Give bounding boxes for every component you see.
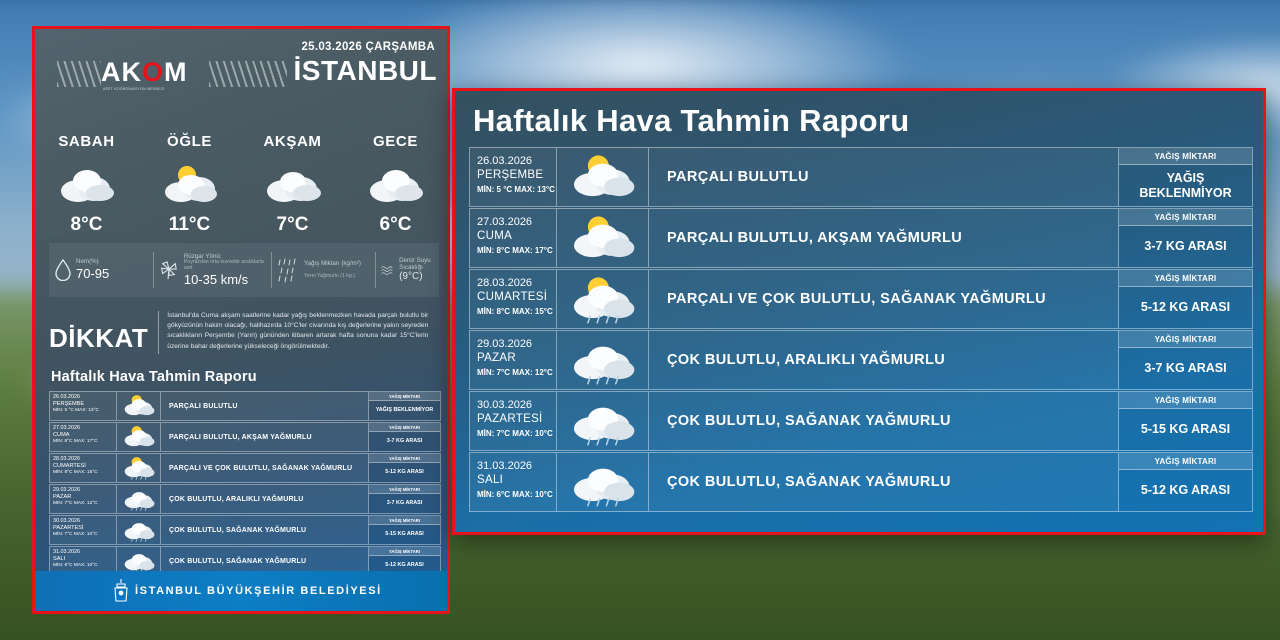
- row-temps: MİN: 7°C MAX: 10°C: [477, 429, 551, 439]
- precipitation-sub: Yerel Yağmurlu (1 kg.): [304, 274, 361, 280]
- table-row[interactable]: 29.03.2026 PAZAR MİN: 7°C MAX: 12°C ÇOK …: [469, 330, 1253, 390]
- card-date: 25.03.2026 ÇARŞAMBA: [301, 41, 435, 53]
- row-description: PARÇALI BULUTLU: [649, 147, 1119, 207]
- row-date-cell: 31.03.2026 SALI MİN: 6°C MAX: 10°C: [469, 452, 557, 512]
- row-date: 29.03.2026: [477, 337, 551, 351]
- rain-header: YAĞIŞ MİKTARI: [369, 516, 440, 525]
- partly-sunny-icon: [138, 158, 241, 210]
- row-date-cell: 29.03.2026 PAZAR MİN: 7°C MAX: 12°C: [469, 330, 557, 390]
- row-date-cell: 28.03.2026 CUMARTESİ MİN: 8°C MAX: 15°C: [469, 269, 557, 329]
- row-date-cell: 28.03.2026 CUMARTESİ MİN: 8°C MAX: 15°C: [49, 453, 117, 483]
- akom-logo: AKOM AFET KOORDİNASYON MERKEZİ: [57, 57, 287, 101]
- logo-wordmark: AKOM: [101, 57, 188, 88]
- row-date-cell: 26.03.2026 PERŞEMBE MİN: 5 °C MAX: 13°C: [469, 147, 557, 207]
- row-weekday: PAZARTESİ: [477, 412, 551, 427]
- row-description: PARÇALI BULUTLU, AKŞAM YAĞMURLU: [649, 208, 1119, 268]
- rain-value: 3-7 KG ARASI: [1119, 348, 1252, 389]
- partly-sunny-icon: [117, 391, 161, 421]
- card-footer: İSTANBUL BÜYÜKŞEHİR BELEDİYESİ: [35, 571, 447, 611]
- rain-value: 5-15 KG ARASI: [1119, 409, 1252, 450]
- tod-temperature: 7°C: [241, 214, 344, 236]
- sea-temperature-item: Deniz Suyu Sıcaklığı (9°C): [375, 243, 439, 297]
- row-temps: MİN: 6°C MAX: 10°C: [477, 490, 551, 500]
- partly-sunny-icon: [557, 147, 649, 207]
- cloudy-icon: [35, 158, 138, 210]
- row-rain-cell: YAĞIŞ MİKTARI 5-12 KG ARASI: [1119, 452, 1253, 512]
- wind-description: Poyrazdan orta kuvvette aralıklarla sert: [184, 260, 265, 272]
- card-city: İSTANBUL: [294, 55, 437, 87]
- humidity-value: 70-95: [76, 267, 109, 282]
- row-rain-cell: YAĞIŞ MİKTARI 5-12 KG ARASI: [1119, 269, 1253, 329]
- row-date: 30.03.2026: [477, 398, 551, 412]
- cloud-rain-icon: [557, 452, 649, 512]
- row-date: 26.03.2026: [53, 394, 113, 401]
- row-rain-cell: YAĞIŞ MİKTARI YAĞIŞ BEKLENMİYOR: [369, 391, 441, 421]
- overlay-title: Haftalık Hava Tahmin Raporu: [473, 103, 909, 139]
- row-weekday: CUMARTESİ: [477, 290, 551, 305]
- cloudy-night-icon: [344, 158, 447, 210]
- humidity-item: Nem(%) 70-95: [49, 243, 153, 297]
- rain-header: YAĞIŞ MİKTARI: [1119, 331, 1252, 348]
- row-date: 29.03.2026: [53, 487, 113, 494]
- precipitation-item: Yağış Miktarı (kg/m²) Yerel Yağmurlu (1 …: [271, 243, 375, 297]
- logo-stripes-right: [209, 61, 287, 87]
- row-description: ÇOK BULUTLU, SAĞANAK YAĞMURLU: [649, 391, 1119, 451]
- row-date: 28.03.2026: [477, 276, 551, 290]
- rain-value: 3-7 KG ARASI: [369, 432, 440, 451]
- row-temps: MİN: 8°C MAX: 17°C: [53, 439, 113, 445]
- row-date-cell: 26.03.2026 PERŞEMBE MİN: 5 °C MAX: 13°C: [49, 391, 117, 421]
- cloud-rain-icon: [557, 391, 649, 451]
- row-weekday: CUMARTESİ: [53, 463, 113, 470]
- row-date-cell: 27.03.2026 CUMA MİN: 8°C MAX: 17°C: [469, 208, 557, 268]
- partly-sunny-icon: [557, 208, 649, 268]
- table-row[interactable]: 31.03.2026 SALI MİN: 6°C MAX: 10°C ÇOK B…: [469, 452, 1253, 512]
- weekly-forecast-table: 26.03.2026 PERŞEMBE MİN: 5 °C MAX: 13°C …: [469, 147, 1253, 513]
- pinwheel-icon: [159, 258, 179, 282]
- row-rain-cell: YAĞIŞ MİKTARI 5-15 KG ARASI: [1119, 391, 1253, 451]
- tod-ogle: ÖĞLE 11°C: [138, 133, 241, 236]
- row-rain-cell: YAĞIŞ MİKTARI 3-7 KG ARASI: [369, 484, 441, 514]
- precipitation-label: Yağış Miktarı (kg/m²): [304, 260, 361, 267]
- row-date-cell: 29.03.2026 PAZAR MİN: 7°C MAX: 12°C: [49, 484, 117, 514]
- rain-value: 3-7 KG ARASI: [369, 494, 440, 513]
- wind-value: 10-35 km/s: [184, 273, 265, 288]
- table-row[interactable]: 27.03.2026 CUMA MİN: 8°C MAX: 17°C PARÇA…: [469, 208, 1253, 268]
- weekly-forecast-overlay: Haftalık Hava Tahmin Raporu 26.03.2026 P…: [452, 88, 1266, 535]
- rain-header: YAĞIŞ MİKTARI: [369, 454, 440, 463]
- droplet-icon: [55, 259, 71, 281]
- row-description: ÇOK BULUTLU, ARALIKLI YAĞMURLU: [161, 484, 369, 514]
- tod-label: ÖĞLE: [138, 133, 241, 150]
- row-description: PARÇALI VE ÇOK BULUTLU, SAĞANAK YAĞMURLU: [649, 269, 1119, 329]
- list-item[interactable]: 27.03.2026 CUMA MİN: 8°C MAX: 17°C PARÇA…: [49, 422, 441, 452]
- row-temps: MİN: 8°C MAX: 15°C: [477, 307, 551, 317]
- row-date: 30.03.2026: [53, 518, 113, 525]
- rain-header: YAĞIŞ MİKTARI: [1119, 270, 1252, 287]
- row-weekday: SALI: [477, 473, 551, 488]
- row-date: 28.03.2026: [53, 456, 113, 463]
- cloudy-icon: [241, 158, 344, 210]
- rain-value: 5-12 KG ARASI: [1119, 287, 1252, 328]
- row-rain-cell: YAĞIŞ MİKTARI 3-7 KG ARASI: [369, 422, 441, 452]
- tod-gece: GECE 6°C: [344, 133, 447, 236]
- logo-stripes-left: [57, 61, 101, 87]
- logo-text-o: O: [142, 57, 164, 87]
- rain-value: 5-15 KG ARASI: [369, 525, 440, 544]
- row-rain-cell: YAĞIŞ MİKTARI 5-12 KG ARASI: [369, 453, 441, 483]
- row-weekday: PAZARTESİ: [53, 525, 113, 532]
- tod-label: AKŞAM: [241, 133, 344, 150]
- weekly-report-subtitle: Haftalık Hava Tahmin Raporu: [51, 369, 257, 385]
- wind-item: Rüzgar Yönü: Poyrazdan orta kuvvette ara…: [153, 243, 271, 297]
- row-date: 27.03.2026: [53, 425, 113, 432]
- row-weekday: PERŞEMBE: [53, 401, 113, 408]
- row-weekday: PERŞEMBE: [477, 168, 551, 183]
- rain-header: YAĞIŞ MİKTARI: [369, 485, 440, 494]
- row-weekday: PAZAR: [477, 351, 551, 366]
- tod-sabah: SABAH 8°C: [35, 133, 138, 236]
- rain-value: 5-12 KG ARASI: [1119, 470, 1252, 511]
- row-date: 26.03.2026: [477, 154, 551, 168]
- row-description: ÇOK BULUTLU, SAĞANAK YAĞMURLU: [649, 452, 1119, 512]
- list-item[interactable]: 26.03.2026 PERŞEMBE MİN: 5 °C MAX: 13°C …: [49, 391, 441, 421]
- row-rain-cell: YAĞIŞ MİKTARI YAĞIŞ BEKLENMİYOR: [1119, 147, 1253, 207]
- list-item[interactable]: 30.03.2026 PAZARTESİ MİN: 7°C MAX: 10°C …: [49, 515, 441, 545]
- row-temps: MİN: 6°C MAX: 10°C: [53, 563, 113, 569]
- row-temps: MİN: 8°C MAX: 15°C: [53, 470, 113, 476]
- sea-label: Deniz Suyu Sıcaklığı: [399, 257, 433, 271]
- warning-title: DİKKAT: [49, 311, 148, 354]
- row-date-cell: 30.03.2026 PAZARTESİ MİN: 7°C MAX: 10°C: [49, 515, 117, 545]
- warning-text: İstanbul'da Cuma akşam saatlerine kadar …: [158, 311, 428, 354]
- list-item[interactable]: 29.03.2026 PAZAR MİN: 7°C MAX: 12°C ÇOK …: [49, 484, 441, 514]
- row-description: ÇOK BULUTLU, ARALIKLI YAĞMURLU: [649, 330, 1119, 390]
- rain-value: YAĞIŞ BEKLENMİYOR: [1119, 165, 1252, 206]
- row-weekday: CUMA: [477, 229, 551, 244]
- rain-value: 3-7 KG ARASI: [1119, 226, 1252, 267]
- row-weekday: SALI: [53, 556, 113, 563]
- waves-icon: [381, 262, 394, 278]
- row-temps: MİN: 5 °C MAX: 13°C: [53, 408, 113, 414]
- row-date-cell: 27.03.2026 CUMA MİN: 8°C MAX: 17°C: [49, 422, 117, 452]
- cloud-rain-icon: [117, 484, 161, 514]
- row-date-cell: 30.03.2026 PAZARTESİ MİN: 7°C MAX: 10°C: [469, 391, 557, 451]
- rain-header: YAĞIŞ MİKTARI: [1119, 148, 1252, 165]
- list-item[interactable]: 28.03.2026 CUMARTESİ MİN: 8°C MAX: 15°C …: [49, 453, 441, 483]
- tod-aksam: AKŞAM 7°C: [241, 133, 344, 236]
- row-description: PARÇALI BULUTLU, AKŞAM YAĞMURLU: [161, 422, 369, 452]
- ibb-crest-icon: [111, 578, 131, 604]
- conditions-strip: Nem(%) 70-95 Rüzgar Yönü: Poyrazdan orta…: [49, 243, 439, 297]
- row-description: PARÇALI VE ÇOK BULUTLU, SAĞANAK YAĞMURLU: [161, 453, 369, 483]
- row-date: 31.03.2026: [53, 549, 113, 556]
- row-weekday: PAZAR: [53, 494, 113, 501]
- row-date: 31.03.2026: [477, 459, 551, 473]
- row-temps: MİN: 7°C MAX: 12°C: [53, 501, 113, 507]
- logo-text-before: AK: [101, 57, 142, 87]
- rain-header: YAĞIŞ MİKTARI: [1119, 209, 1252, 226]
- row-rain-cell: YAĞIŞ MİKTARI 3-7 KG ARASI: [1119, 330, 1253, 390]
- row-rain-cell: YAĞIŞ MİKTARI 3-7 KG ARASI: [1119, 208, 1253, 268]
- warning-block: DİKKAT İstanbul'da Cuma akşam saatlerine…: [49, 311, 441, 354]
- cloud-rain-icon: [557, 330, 649, 390]
- sea-value: (9°C): [399, 271, 433, 283]
- row-temps: MİN: 8°C MAX: 17°C: [477, 246, 551, 256]
- akom-daily-card: 25.03.2026 ÇARŞAMBA İSTANBUL AKOM AFET K…: [32, 26, 450, 614]
- rain-header: YAĞIŞ MİKTARI: [369, 392, 440, 401]
- tod-temperature: 11°C: [138, 214, 241, 236]
- rain-value: 5-12 KG ARASI: [369, 463, 440, 482]
- rain-icon: [277, 257, 299, 283]
- row-date: 27.03.2026: [477, 215, 551, 229]
- row-weekday: CUMA: [53, 432, 113, 439]
- row-rain-cell: YAĞIŞ MİKTARI 5-15 KG ARASI: [369, 515, 441, 545]
- table-row[interactable]: 28.03.2026 CUMARTESİ MİN: 8°C MAX: 15°C …: [469, 269, 1253, 329]
- rain-header: YAĞIŞ MİKTARI: [369, 423, 440, 432]
- rain-header: YAĞIŞ MİKTARI: [1119, 392, 1252, 409]
- row-temps: MİN: 5 °C MAX: 13°C: [477, 185, 551, 195]
- logo-subtitle: AFET KOORDİNASYON MERKEZİ: [103, 87, 263, 91]
- row-temps: MİN: 7°C MAX: 10°C: [53, 532, 113, 538]
- sun-cloud-rain-icon: [557, 269, 649, 329]
- row-description: ÇOK BULUTLU, SAĞANAK YAĞMURLU: [161, 515, 369, 545]
- mini-forecast-table: 26.03.2026 PERŞEMBE MİN: 5 °C MAX: 13°C …: [49, 391, 441, 577]
- sun-cloud-rain-icon: [117, 453, 161, 483]
- table-row[interactable]: 26.03.2026 PERŞEMBE MİN: 5 °C MAX: 13°C …: [469, 147, 1253, 207]
- cloud-rain-icon: [117, 515, 161, 545]
- row-description: PARÇALI BULUTLU: [161, 391, 369, 421]
- partly-sunny-icon: [117, 422, 161, 452]
- tod-temperature: 6°C: [344, 214, 447, 236]
- humidity-label: Nem(%): [76, 258, 109, 265]
- rain-header: YAĞIŞ MİKTARI: [369, 547, 440, 556]
- logo-text-after: M: [164, 57, 188, 87]
- time-of-day-row: SABAH 8°C ÖĞLE: [35, 133, 447, 236]
- tod-temperature: 8°C: [35, 214, 138, 236]
- table-row[interactable]: 30.03.2026 PAZARTESİ MİN: 7°C MAX: 10°C …: [469, 391, 1253, 451]
- rain-header: YAĞIŞ MİKTARI: [1119, 453, 1252, 470]
- rain-value: YAĞIŞ BEKLENMİYOR: [369, 401, 440, 420]
- tod-label: SABAH: [35, 133, 138, 150]
- municipality-name: İSTANBUL BÜYÜKŞEHİR BELEDİYESİ: [135, 585, 382, 597]
- tod-label: GECE: [344, 133, 447, 150]
- row-temps: MİN: 7°C MAX: 12°C: [477, 368, 551, 378]
